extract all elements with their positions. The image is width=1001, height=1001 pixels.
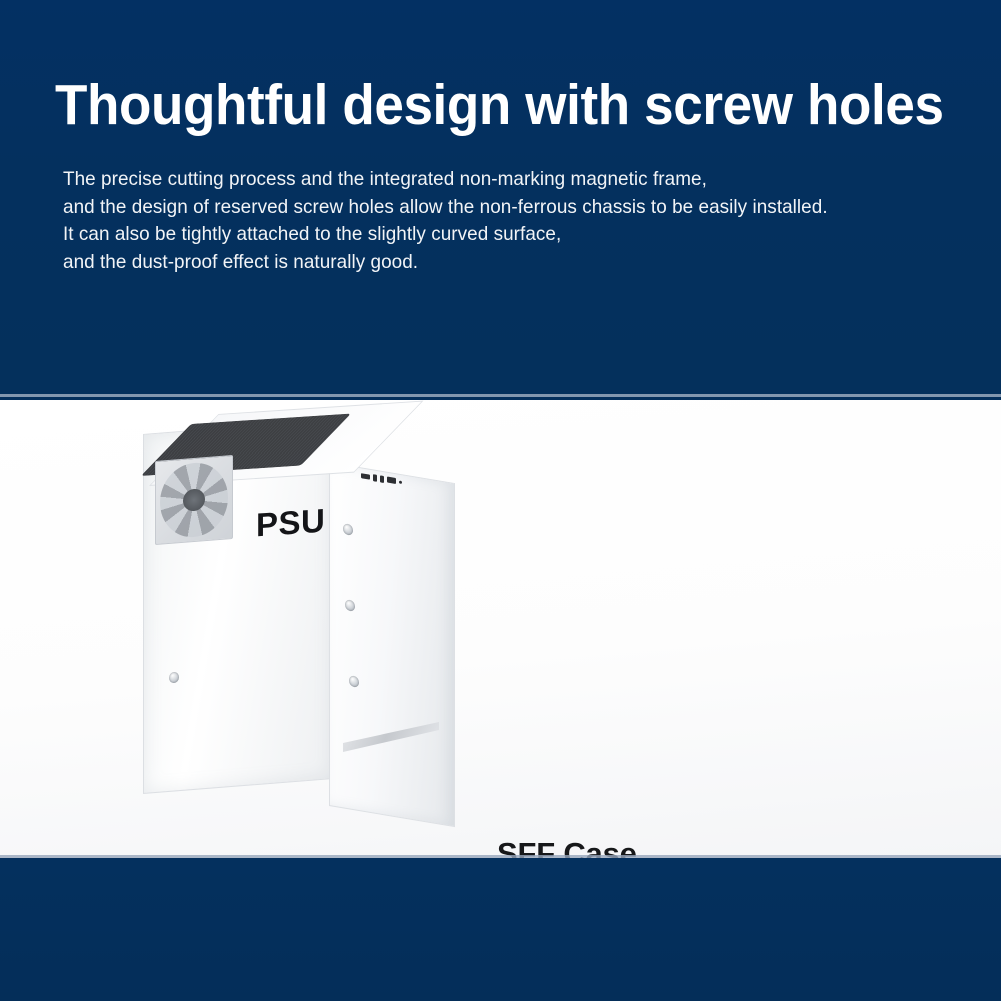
description-line-4: and the dust-proof effect is naturally g… xyxy=(63,249,917,277)
product-feature-banner: Thoughtful design with screw holes The p… xyxy=(0,0,1001,1001)
footer-band xyxy=(0,858,1001,1001)
description-line-3: It can also be tightly attached to the s… xyxy=(63,221,917,249)
tower-intake-fan xyxy=(155,455,233,545)
tower-front-panel xyxy=(329,462,455,827)
description-text: The precise cutting process and the inte… xyxy=(63,166,917,276)
description-line-1: The precise cutting process and the inte… xyxy=(63,166,917,194)
description-line-2: and the design of reserved screw holes a… xyxy=(63,194,917,222)
psu-label: PSU xyxy=(256,502,325,545)
sff-case-label: SFF Case xyxy=(497,836,637,858)
header-band: Thoughtful design with screw holes The p… xyxy=(0,0,1001,397)
page-title: Thoughtful design with screw holes xyxy=(55,70,892,140)
product-scene: PSU SilverStone ST55F-PB xyxy=(0,400,1001,858)
product-photo-panel: PSU SilverStone ST55F-PB xyxy=(0,400,1001,858)
white-tower-chassis: PSU xyxy=(143,414,453,804)
